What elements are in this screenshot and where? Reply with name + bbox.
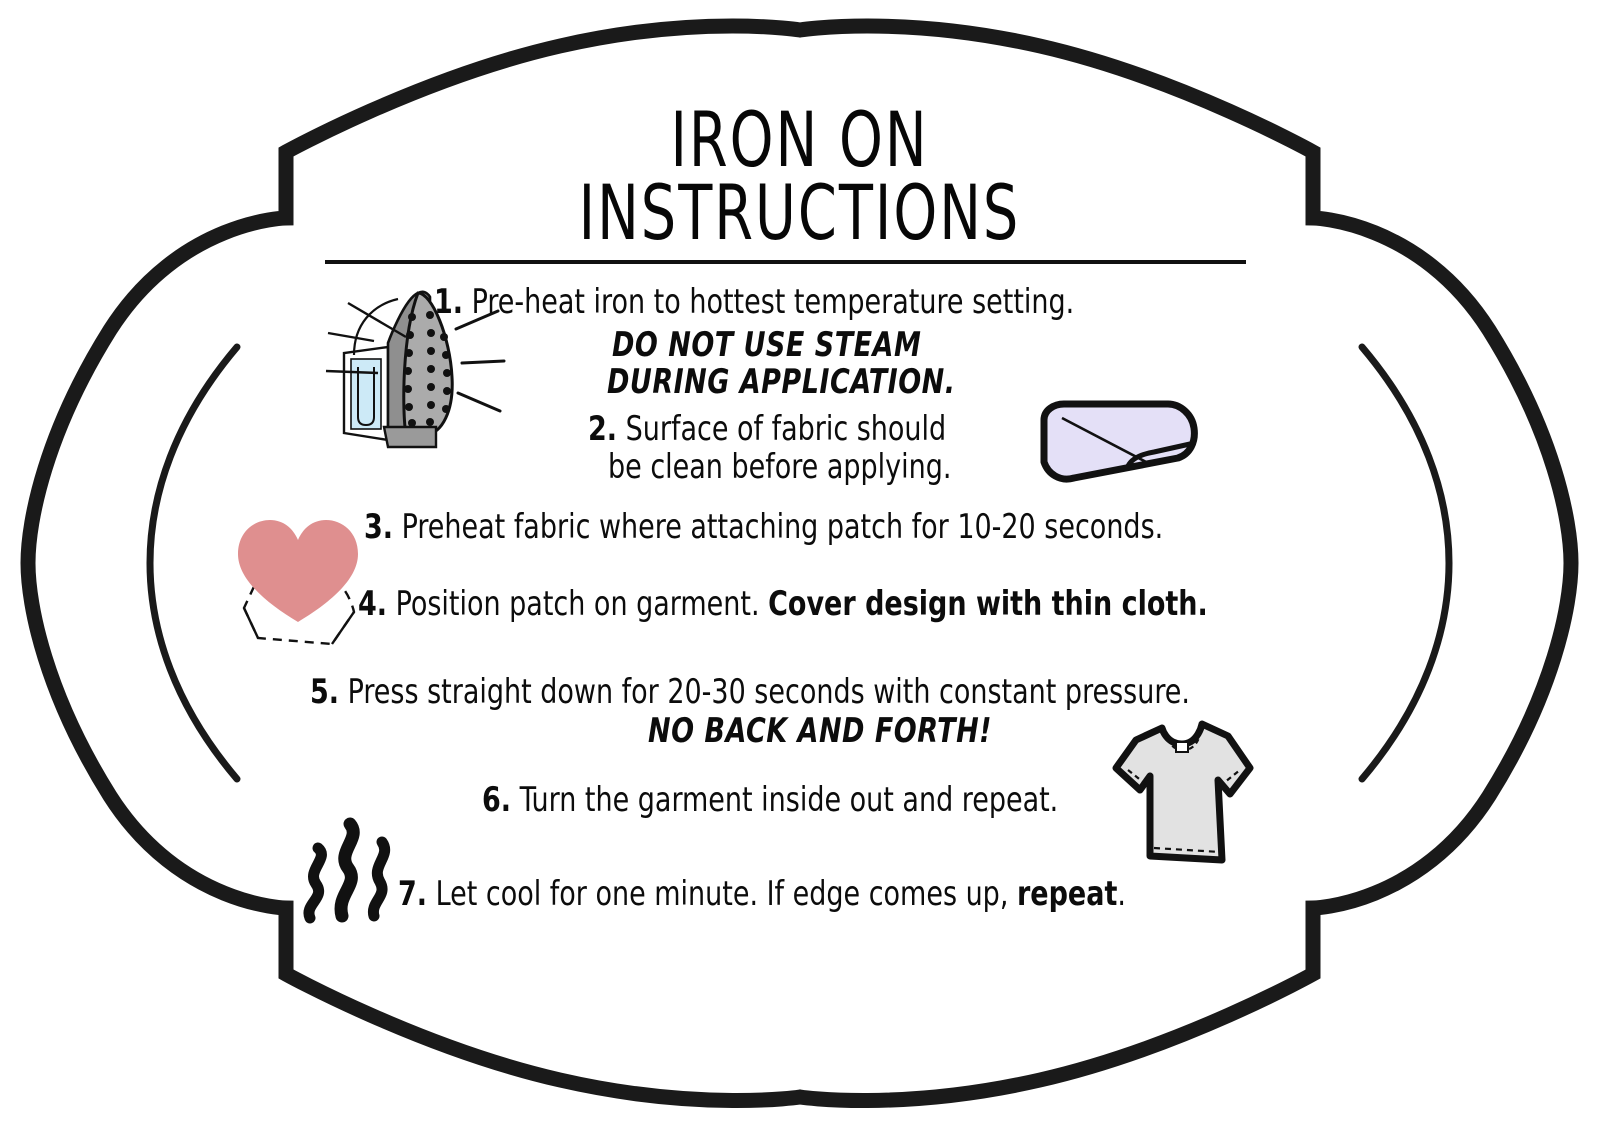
- step-4-number: 4.: [358, 585, 387, 624]
- steam-waves-icon: [296, 812, 401, 922]
- step-1-emphasis-line1: DO NOT USE STEAM: [612, 326, 921, 365]
- step-5: 5. Press straight down for 20-30 seconds…: [310, 673, 1190, 712]
- page-title-line2: INSTRUCTIONS: [0, 168, 1599, 257]
- step-1: 1. Pre-heat iron to hottest temperature …: [434, 283, 1074, 322]
- step-3: 3. Preheat fabric where attaching patch …: [364, 508, 1163, 547]
- poster-canvas: IRON ON INSTRUCTIONS: [0, 0, 1599, 1127]
- step-2-line1: Surface of fabric should: [626, 410, 947, 449]
- step-2-number: 2.: [588, 410, 617, 449]
- step-7-bold: repeat: [1017, 875, 1117, 914]
- step-1-number: 1.: [434, 283, 463, 322]
- step-3-text: Preheat fabric where attaching patch for…: [402, 508, 1164, 547]
- step-1-text: Pre-heat iron to hottest temperature set…: [472, 283, 1075, 322]
- step-6-text: Turn the garment inside out and repeat.: [520, 781, 1059, 820]
- step-2: 2. Surface of fabric should: [588, 410, 946, 449]
- step-3-number: 3.: [364, 508, 393, 547]
- step-6: 6. Turn the garment inside out and repea…: [482, 781, 1058, 820]
- title-divider: [325, 260, 1246, 264]
- heart-patch-icon: [228, 512, 368, 652]
- frame-inner-arc-left: [150, 347, 237, 779]
- step-7: 7. Let cool for one minute. If edge come…: [398, 875, 1126, 914]
- step-1-emphasis-line2: DURING APPLICATION.: [607, 363, 956, 402]
- step-7-text-before: Let cool for one minute. If edge comes u…: [436, 875, 1009, 914]
- step-7-text-after: .: [1117, 875, 1126, 914]
- step-2-line2: be clean before applying.: [608, 448, 951, 487]
- step-7-number: 7.: [398, 875, 427, 914]
- step-4: 4. Position patch on garment. Cover desi…: [358, 585, 1208, 624]
- tshirt-icon: [1106, 718, 1256, 868]
- step-5-number: 5.: [310, 673, 339, 712]
- step-5-emphasis: NO BACK AND FORTH!: [648, 712, 992, 751]
- step-4-text: Position patch on garment.: [396, 585, 760, 624]
- step-4-bold: Cover design with thin cloth.: [768, 585, 1208, 624]
- folded-cloth-icon: [1018, 392, 1208, 487]
- step-5-text: Press straight down for 20-30 seconds wi…: [348, 673, 1190, 712]
- step-6-number: 6.: [482, 781, 511, 820]
- frame-inner-arc-right: [1362, 347, 1449, 779]
